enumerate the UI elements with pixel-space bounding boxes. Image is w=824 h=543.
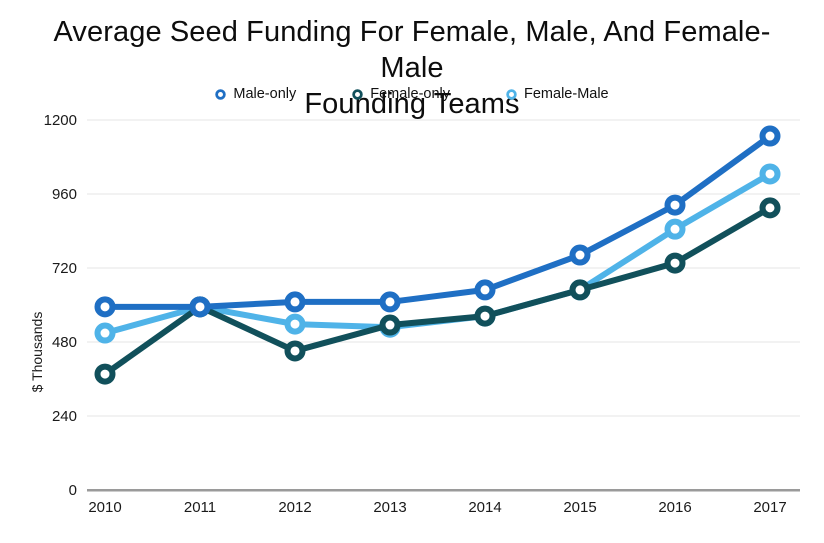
data-point-marker[interactable] <box>288 317 303 332</box>
x-tick-label: 2010 <box>88 499 121 516</box>
data-point-marker[interactable] <box>573 282 588 297</box>
data-point-marker[interactable] <box>98 326 113 341</box>
data-point-marker[interactable] <box>573 248 588 263</box>
data-point-marker[interactable] <box>668 198 683 213</box>
x-tick-label: 2014 <box>468 499 501 516</box>
plot-area: 02404807209601200 2010201120122013201420… <box>0 0 824 543</box>
data-point-marker[interactable] <box>668 256 683 271</box>
y-axis-tick-labels: 02404807209601200 <box>44 112 77 499</box>
y-axis-title: $ Thousands <box>29 312 45 393</box>
data-point-marker[interactable] <box>478 282 493 297</box>
chart-svg: 02404807209601200 2010201120122013201420… <box>0 0 824 543</box>
y-tick-label: 240 <box>52 408 77 425</box>
y-tick-label: 480 <box>52 334 77 351</box>
x-tick-label: 2015 <box>563 499 596 516</box>
x-tick-label: 2012 <box>278 499 311 516</box>
data-point-marker[interactable] <box>98 299 113 314</box>
data-series-group <box>98 129 778 382</box>
data-point-marker[interactable] <box>383 294 398 309</box>
data-point-marker[interactable] <box>288 294 303 309</box>
x-axis-tick-labels: 20102011201220132014201520162017 <box>88 499 786 516</box>
chart-container: Average Seed Funding For Female, Male, A… <box>0 0 824 543</box>
data-point-marker[interactable] <box>383 318 398 333</box>
y-tick-label: 720 <box>52 260 77 277</box>
data-point-marker[interactable] <box>193 299 208 314</box>
data-point-marker[interactable] <box>288 343 303 358</box>
x-tick-label: 2013 <box>373 499 406 516</box>
data-point-marker[interactable] <box>478 309 493 324</box>
data-point-marker[interactable] <box>763 200 778 215</box>
data-point-marker[interactable] <box>98 367 113 382</box>
y-tick-label: 0 <box>69 482 77 499</box>
x-tick-label: 2017 <box>753 499 786 516</box>
x-tick-label: 2011 <box>184 499 216 516</box>
data-point-marker[interactable] <box>763 166 778 181</box>
x-tick-label: 2016 <box>658 499 691 516</box>
data-point-marker[interactable] <box>668 222 683 237</box>
data-point-marker[interactable] <box>763 129 778 144</box>
y-tick-label: 1200 <box>44 112 77 129</box>
y-tick-label: 960 <box>52 186 77 203</box>
